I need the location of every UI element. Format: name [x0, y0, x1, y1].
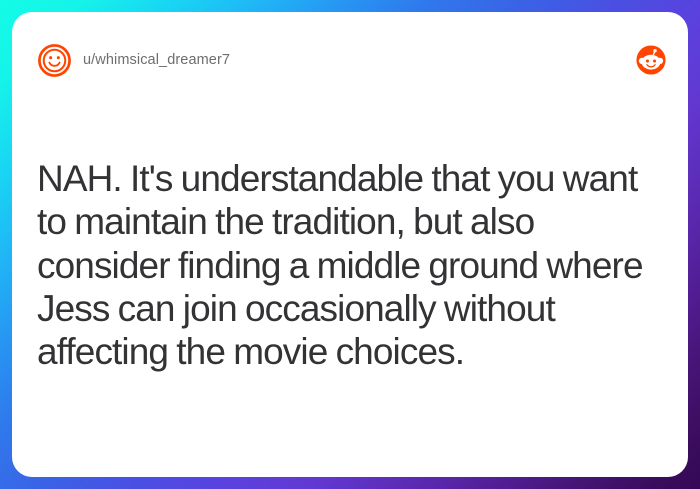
author-username: u/whimsical_dreamer7 [83, 52, 230, 68]
comment-text: NAH. It's understandable that you want t… [37, 157, 670, 373]
gradient-backdrop: u/whimsical_dreamer7 [0, 0, 700, 489]
card-body: NAH. It's understandable that you want t… [37, 157, 670, 373]
reddit-snoo-icon [636, 45, 666, 75]
reddit-comment-card: u/whimsical_dreamer7 [12, 12, 688, 477]
author-block[interactable]: u/whimsical_dreamer7 [37, 43, 230, 78]
card-header: u/whimsical_dreamer7 [12, 12, 688, 108]
smiley-face-icon [37, 43, 72, 78]
